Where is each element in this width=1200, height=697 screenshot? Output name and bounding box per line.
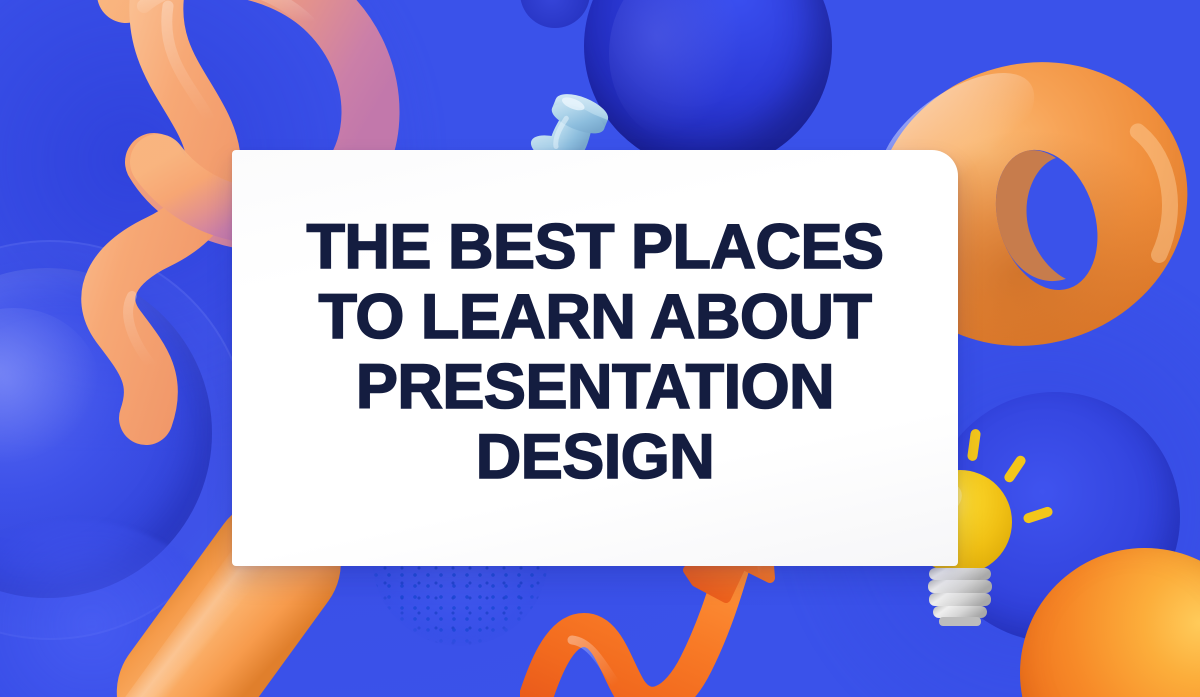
title-line-3: PRESENTATION	[306, 352, 883, 422]
title-line-4: DESIGN	[306, 422, 883, 492]
headline-card-content: THE BEST PLACES TO LEARN ABOUT PRESENTAT…	[232, 150, 958, 566]
title-line-2: TO LEARN ABOUT	[306, 282, 883, 352]
title-line-1: THE BEST PLACES	[306, 212, 883, 282]
headline-card: THE BEST PLACES TO LEARN ABOUT PRESENTAT…	[232, 150, 958, 566]
page-title: THE BEST PLACES TO LEARN ABOUT PRESENTAT…	[306, 212, 883, 492]
slide-canvas: THE BEST PLACES TO LEARN ABOUT PRESENTAT…	[0, 0, 1200, 697]
